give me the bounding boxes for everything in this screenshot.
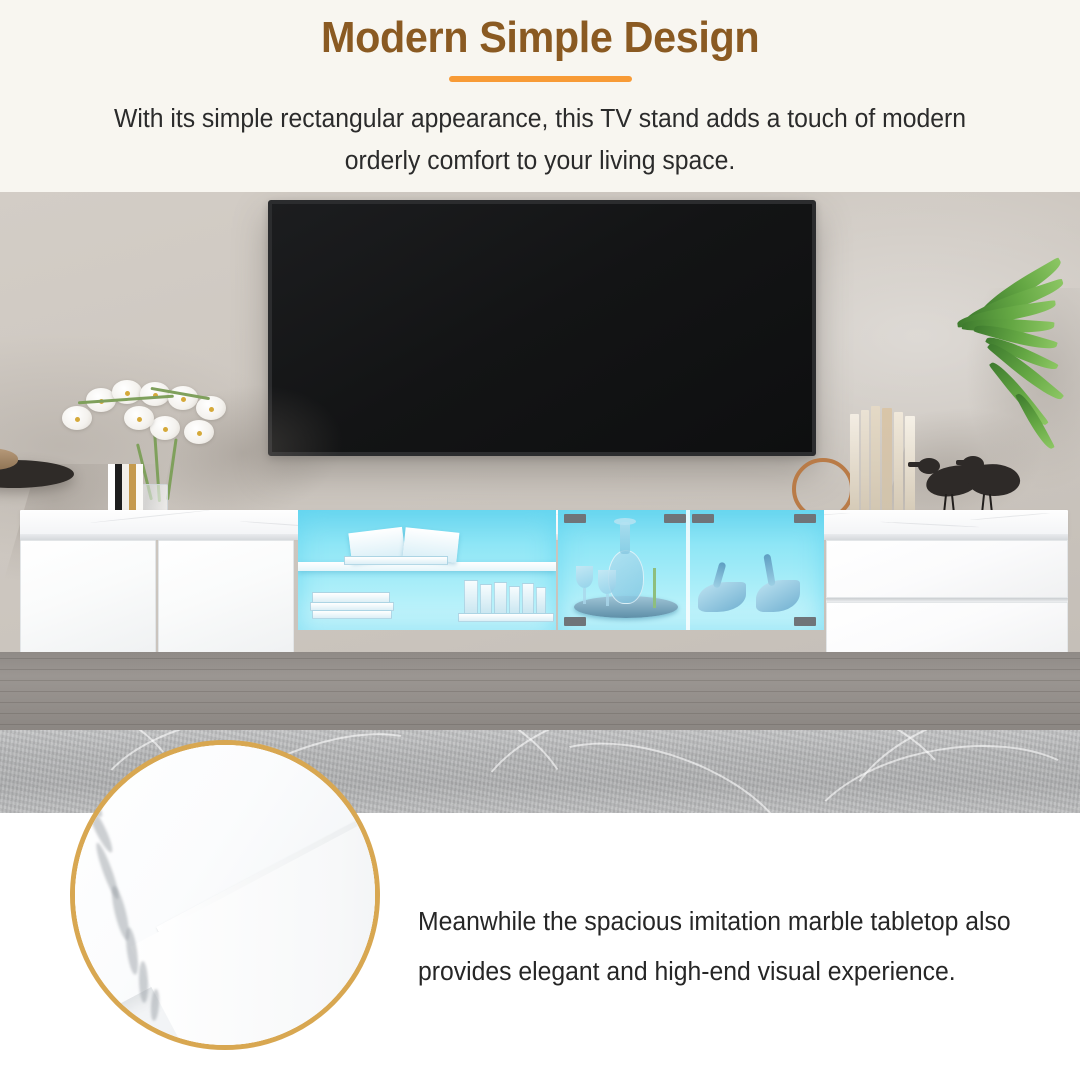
glass-door-clip-tr	[794, 514, 816, 523]
orchid-bloom-9	[184, 420, 214, 444]
floor-plank-line-5	[0, 702, 1080, 703]
cabinet-door-left[interactable]	[20, 540, 156, 658]
floor-plank-line-7	[0, 724, 1080, 725]
bottom-caption-line-2: provides elegant and high-end visual exp…	[418, 947, 1019, 997]
shelf-book-2	[480, 584, 492, 614]
marble-vein-1	[90, 510, 209, 524]
decanter-stopper	[614, 518, 636, 525]
header-subtitle: With its simple rectangular appearance, …	[113, 98, 967, 182]
marble-tabletop-closeup	[70, 740, 380, 1050]
shelf-book-6	[536, 587, 546, 614]
shelf-book-3	[494, 582, 507, 614]
wine-goblet-2	[598, 570, 616, 594]
glass-door-clip-tl	[564, 514, 586, 523]
floor-plank-line-4	[0, 691, 1080, 692]
bottom-caption-line-1: Meanwhile the spacious imitation marble …	[418, 897, 1019, 947]
floor-plank-line-2	[0, 669, 1080, 670]
orchid-bloom-7	[150, 416, 180, 440]
sprig-stem	[653, 568, 656, 608]
right-glass-door-display[interactable]	[558, 510, 824, 630]
decanter-neck	[620, 522, 630, 554]
bottom-detail-section: Meanwhile the spacious imitation marble …	[0, 813, 1080, 1080]
right-drawer-unit[interactable]	[826, 540, 1068, 666]
cabinet-door-right[interactable]	[158, 540, 294, 658]
crystal-swan-figurine-1	[698, 582, 746, 612]
header-banner: Modern Simple Design With its simple rec…	[0, 0, 1080, 192]
magazine-stack-bottom	[312, 610, 392, 619]
shelf-book-base	[458, 613, 554, 622]
glass-door-clip-br	[794, 617, 816, 626]
orchid-bloom-8	[124, 406, 154, 430]
title-underline-accent	[449, 76, 632, 82]
orchid-bloom-1	[62, 406, 92, 430]
crystal-swan-figurine-2	[756, 580, 800, 612]
left-open-led-shelf	[298, 510, 556, 630]
bottom-caption: Meanwhile the spacious imitation marble …	[418, 897, 1019, 997]
shelf-book-4	[509, 586, 520, 614]
bird-figurine-2-beak	[956, 460, 969, 465]
orchid-bloom-6	[196, 396, 226, 420]
goblet-stem-1	[583, 588, 586, 604]
floor-plank-line-3	[0, 680, 1080, 681]
book-base	[344, 556, 448, 565]
glass-door-center-seam[interactable]	[686, 510, 690, 630]
orchid-bloom-4	[140, 382, 170, 406]
wood-floor	[0, 652, 1080, 732]
bird-figurine-1-beak	[908, 462, 922, 467]
product-lifestyle-photo	[0, 192, 1080, 813]
marble-vein-6	[880, 521, 980, 527]
floor-plank-line-1	[0, 658, 1080, 659]
drawer-bottom[interactable]	[826, 602, 1068, 658]
shelf-book-5	[522, 583, 534, 614]
goblet-stem-2	[606, 594, 609, 606]
left-double-door-cabinet[interactable]	[20, 540, 296, 666]
subtitle-line-1: With its simple rectangular appearance, …	[114, 105, 875, 133]
floor-plank-line-6	[0, 713, 1080, 714]
glass-door-clip-bl	[564, 617, 586, 626]
marble-vein-7	[970, 513, 1050, 521]
glass-door-clip-tm1	[664, 514, 686, 523]
led-tv-stand	[20, 510, 1068, 670]
drawer-top[interactable]	[826, 540, 1068, 598]
page-title: Modern Simple Design	[321, 13, 759, 63]
glass-door-clip-tm2	[692, 514, 714, 523]
shelf-book-1	[464, 580, 478, 614]
orchid-bloom-5	[168, 386, 198, 410]
wine-goblet-1	[576, 566, 593, 588]
swan-neck-2	[763, 554, 775, 587]
